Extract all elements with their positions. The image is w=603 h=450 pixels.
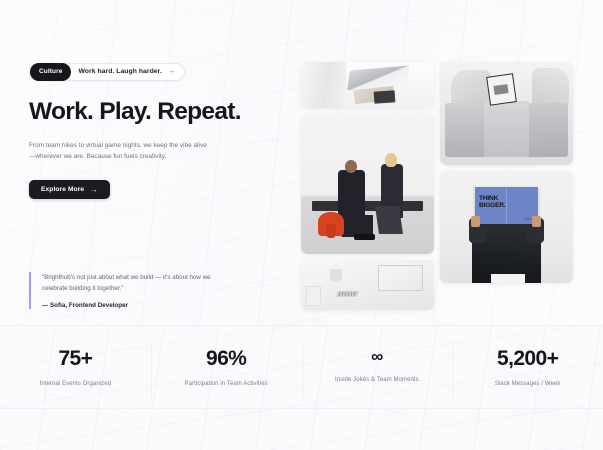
- photo-collage: THINK BIGGER. brighthub: [301, 62, 573, 310]
- testimonial: “Brighthub’s not just about what we buil…: [29, 272, 234, 309]
- photo-detail-hand-left: [471, 216, 480, 227]
- photo-detail-sidepiece: [306, 286, 321, 306]
- photo-detail-bench: [312, 201, 424, 211]
- arrow-right-icon: →: [90, 186, 98, 194]
- photo-detail-person-right-legs: [375, 206, 403, 234]
- stat-participation: 96% Participation in Team Activities: [151, 348, 302, 387]
- explore-more-button[interactable]: Explore More →: [29, 180, 110, 199]
- testimonial-quote: “Brighthub’s not just about what we buil…: [42, 272, 234, 294]
- photo-detail-device: [374, 90, 396, 103]
- photo-detail-person-left-head: [345, 160, 357, 173]
- landing-page: Culture Work hard. Laugh harder. → Work.…: [0, 0, 603, 450]
- culture-badge-text: Work hard. Laugh harder.: [78, 68, 161, 75]
- stat-value: 5,200+: [458, 348, 597, 369]
- stat-inside-jokes: ∞ Inside Jokes & Team Moments: [302, 348, 453, 387]
- stat-label: Participation in Team Activities: [157, 381, 296, 387]
- workspace-detail-photo[interactable]: [301, 260, 434, 310]
- stats-divider: [0, 408, 603, 409]
- photo-detail-orange-stool: [318, 212, 343, 236]
- poster-text: THINK BIGGER.: [479, 195, 505, 210]
- stat-internal-events: 75+ Internal Events Organized: [0, 348, 151, 387]
- desk-laptop-photo[interactable]: [301, 62, 434, 108]
- stats-section: 75+ Internal Events Organized 96% Partic…: [0, 325, 603, 450]
- grey-modular-sofa-photo[interactable]: [440, 62, 573, 165]
- stat-value: ∞: [308, 348, 447, 365]
- poster-fold-line: [506, 187, 507, 224]
- photo-detail-keyboard: [336, 291, 359, 297]
- think-bigger-poster-photo[interactable]: THINK BIGGER. brighthub: [440, 171, 573, 283]
- hero-description: From team hikes to virtual game nights, …: [29, 140, 211, 162]
- colleagues-on-bench-photo[interactable]: [301, 114, 434, 254]
- stat-label: Internal Events Organized: [6, 381, 145, 387]
- stat-slack-messages: 5,200+ Slack Messages / Week: [452, 348, 603, 387]
- stat-value: 75+: [6, 348, 145, 369]
- explore-more-label: Explore More: [41, 186, 84, 193]
- photo-detail-panel: [378, 265, 423, 291]
- photo-detail-framed-art: [486, 74, 516, 106]
- hero-section: Culture Work hard. Laugh harder. → Work.…: [0, 0, 603, 325]
- poster-line-1: THINK: [479, 195, 505, 202]
- photo-detail-sofa: [445, 103, 567, 157]
- page-title: Work. Play. Repeat.: [29, 99, 279, 125]
- photo-detail-paper: [491, 274, 526, 283]
- culture-badge[interactable]: Culture Work hard. Laugh harder. →: [29, 63, 185, 81]
- photo-detail-hand-right: [532, 216, 541, 227]
- photo-detail-shoes: [354, 234, 375, 240]
- arrow-right-icon: →: [168, 68, 175, 75]
- culture-badge-tag: Culture: [30, 63, 71, 81]
- poster-line-2: BIGGER.: [479, 202, 505, 209]
- stat-label: Inside Jokes & Team Moments: [308, 377, 447, 383]
- photo-detail-person-right-head: [385, 153, 397, 167]
- testimonial-author: — Sofia, Frontend Developer: [42, 302, 234, 309]
- hero-content: Culture Work hard. Laugh harder. → Work.…: [29, 60, 279, 199]
- stat-label: Slack Messages / Week: [458, 381, 597, 387]
- poster-think-bigger: THINK BIGGER. brighthub: [475, 187, 539, 224]
- stats-row: 75+ Internal Events Organized 96% Partic…: [0, 348, 603, 387]
- stat-value: 96%: [157, 348, 296, 369]
